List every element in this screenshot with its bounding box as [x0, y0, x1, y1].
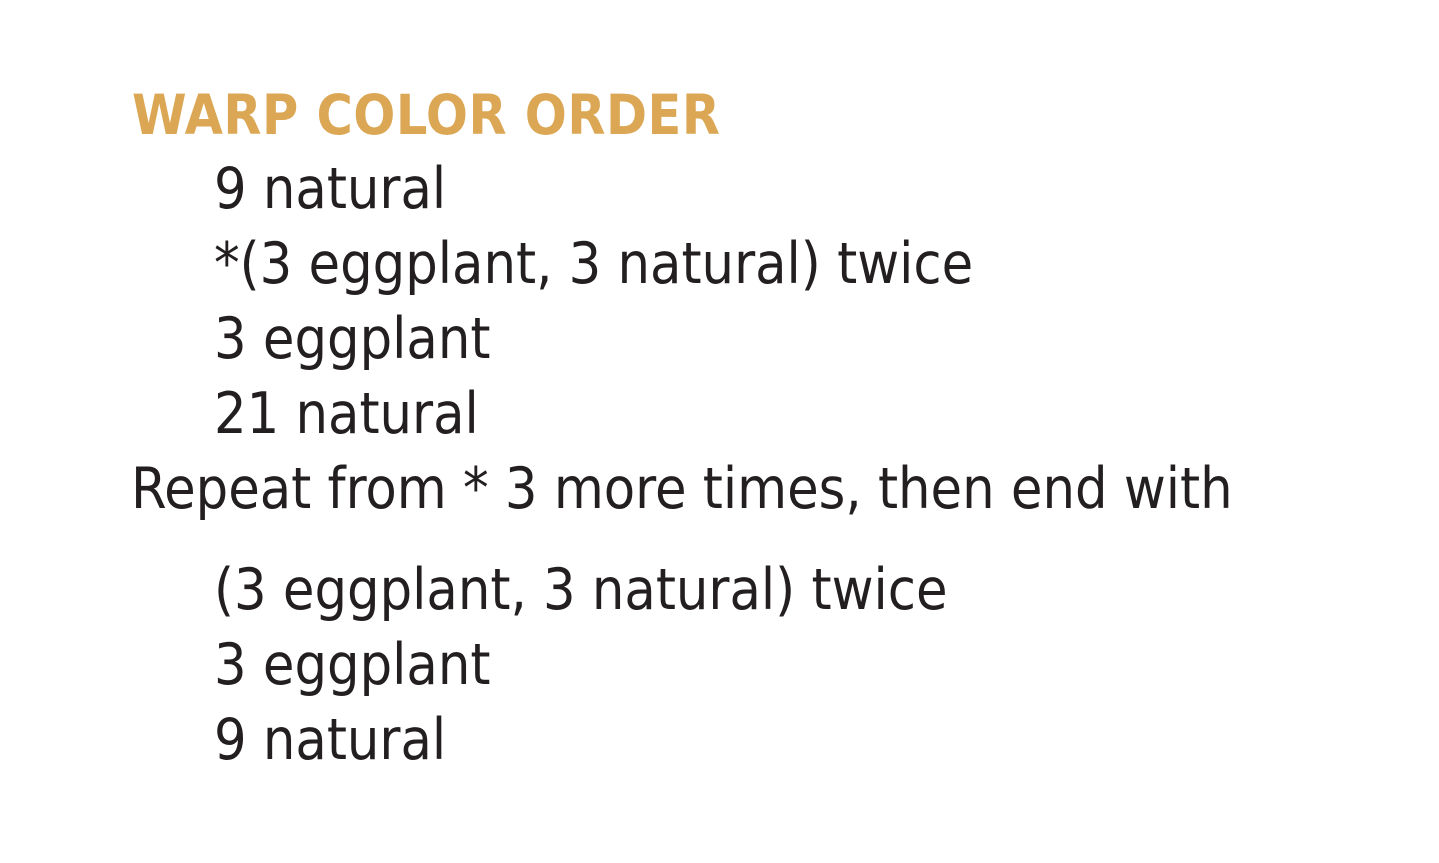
- instruction-line: *(3 eggplant, 3 natural) twice: [0, 227, 1439, 302]
- warp-color-order-list: 9 natural*(3 eggplant, 3 natural) twice3…: [0, 152, 1439, 778]
- instruction-line: 21 natural: [0, 377, 1439, 452]
- instruction-line: 9 natural: [0, 703, 1439, 778]
- instruction-line: Repeat from * 3 more times, then end wit…: [0, 452, 1439, 527]
- page-canvas: WARP COLOR ORDER 9 natural*(3 eggplant, …: [0, 0, 1439, 863]
- instruction-line: 9 natural: [0, 152, 1439, 227]
- instruction-line: 3 eggplant: [0, 302, 1439, 377]
- instruction-line: 3 eggplant: [0, 628, 1439, 703]
- instruction-line: (3 eggplant, 3 natural) twice: [0, 553, 1439, 628]
- page-title: WARP COLOR ORDER: [132, 86, 720, 144]
